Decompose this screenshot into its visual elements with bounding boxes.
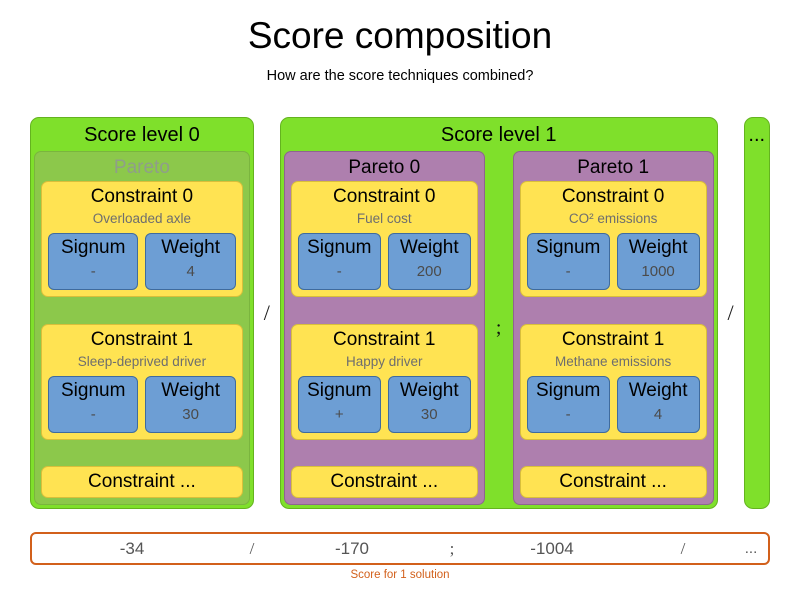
weight-label: Weight: [148, 235, 232, 260]
constraint-fields: Signum + Weight 30: [298, 376, 471, 433]
constraint-title: Constraint 0: [527, 184, 700, 209]
constraint-more-row[interactable]: Constraint ...: [41, 466, 243, 498]
constraint-card[interactable]: Constraint 0 Overloaded axle Signum - We…: [41, 181, 243, 297]
score-value-more: ...: [734, 540, 768, 557]
signum-value: -: [530, 260, 607, 284]
constraint-card[interactable]: Constraint 1 Methane emissions Signum - …: [520, 324, 707, 440]
pareto-title: Pareto 0: [291, 155, 478, 181]
weight-label: Weight: [391, 235, 468, 260]
constraint-description: CO² emissions: [527, 209, 700, 229]
weight-field[interactable]: Weight 200: [388, 233, 471, 290]
score-separator-2: ;: [432, 539, 472, 559]
pareto-group-level1-0: Pareto 0 Constraint 0 Fuel cost Signum -…: [284, 151, 485, 505]
signum-field[interactable]: Signum -: [527, 233, 610, 290]
constraint-more-row[interactable]: Constraint ...: [291, 466, 478, 498]
constraint-card[interactable]: Constraint 1 Happy driver Signum + Weigh…: [291, 324, 478, 440]
weight-field[interactable]: Weight 4: [145, 233, 235, 290]
signum-value: -: [51, 403, 135, 427]
constraint-title: Constraint 1: [48, 327, 236, 352]
signum-label: Signum: [530, 235, 607, 260]
constraint-fields: Signum - Weight 30: [48, 376, 236, 433]
score-level-0-body: Pareto Constraint 0 Overloaded axle Sign…: [34, 151, 250, 505]
constraint-description: Sleep-deprived driver: [48, 352, 236, 372]
score-level-more-title: ...: [748, 121, 765, 147]
pareto-title: Pareto: [41, 155, 243, 181]
weight-field[interactable]: Weight 30: [388, 376, 471, 433]
score-separator-1: /: [232, 539, 272, 559]
signum-value: +: [301, 403, 378, 427]
weight-label: Weight: [148, 378, 232, 403]
page-subtitle: How are the score techniques combined?: [0, 67, 800, 85]
signum-label: Signum: [51, 378, 135, 403]
constraint-fields: Signum - Weight 4: [48, 233, 236, 290]
signum-field[interactable]: Signum -: [48, 376, 138, 433]
signum-label: Signum: [301, 235, 378, 260]
score-caption: Score for 1 solution: [30, 568, 770, 582]
signum-value: -: [530, 403, 607, 427]
score-level-0-title: Score level 0: [34, 121, 250, 151]
pareto-title: Pareto 1: [520, 155, 707, 181]
weight-label: Weight: [620, 378, 697, 403]
pareto-constraint-list: Constraint 0 Overloaded axle Signum - We…: [41, 181, 243, 498]
weight-field[interactable]: Weight 30: [145, 376, 235, 433]
signum-value: -: [51, 260, 135, 284]
signum-field[interactable]: Signum -: [298, 233, 381, 290]
signum-field[interactable]: Signum -: [527, 376, 610, 433]
constraint-card[interactable]: Constraint 0 CO² emissions Signum - Weig…: [520, 181, 707, 297]
score-level-1-title: Score level 1: [284, 121, 714, 151]
constraint-fields: Signum - Weight 200: [298, 233, 471, 290]
constraint-fields: Signum - Weight 4: [527, 376, 700, 433]
constraint-description: Fuel cost: [298, 209, 471, 229]
signum-field[interactable]: Signum +: [298, 376, 381, 433]
weight-value: 30: [148, 403, 232, 427]
pareto-constraint-list: Constraint 0 Fuel cost Signum - Weight 2…: [291, 181, 478, 498]
score-level-more-panel: ...: [744, 117, 770, 509]
separator-pareto-0-to-1: ;: [492, 151, 506, 505]
constraint-card[interactable]: Constraint 0 Fuel cost Signum - Weight 2…: [291, 181, 478, 297]
score-level-1-panel: Score level 1 Pareto 0 Constraint 0 Fuel…: [280, 117, 718, 509]
constraint-description: Overloaded axle: [48, 209, 236, 229]
constraint-title: Constraint 1: [527, 327, 700, 352]
weight-field[interactable]: Weight 4: [617, 376, 700, 433]
weight-value: 4: [148, 260, 232, 284]
constraint-title: Constraint 0: [48, 184, 236, 209]
constraint-title: Constraint 1: [298, 327, 471, 352]
score-summary: -34 / -170 ; -1004 / ... Score for 1 sol…: [30, 532, 770, 582]
signum-label: Signum: [51, 235, 135, 260]
weight-value: 200: [391, 260, 468, 284]
score-composition-diagram: Score level 0 Pareto Constraint 0 Overlo…: [30, 117, 770, 509]
weight-label: Weight: [620, 235, 697, 260]
score-bar: -34 / -170 ; -1004 / ...: [30, 532, 770, 565]
weight-label: Weight: [391, 378, 468, 403]
constraint-more-row[interactable]: Constraint ...: [520, 466, 707, 498]
score-level-1-body: Pareto 0 Constraint 0 Fuel cost Signum -…: [284, 151, 714, 505]
signum-label: Signum: [301, 378, 378, 403]
score-value-level-1-pareto-1: -1004: [472, 539, 632, 559]
signum-value: -: [301, 260, 378, 284]
page-title: Score composition: [0, 14, 800, 58]
header: Score composition How are the score tech…: [0, 0, 800, 85]
constraint-description: Happy driver: [298, 352, 471, 372]
weight-value: 4: [620, 403, 697, 427]
weight-value: 1000: [620, 260, 697, 284]
weight-field[interactable]: Weight 1000: [617, 233, 700, 290]
pareto-constraint-list: Constraint 0 CO² emissions Signum - Weig…: [520, 181, 707, 498]
score-value-level-1-pareto-0: -170: [272, 539, 432, 559]
pareto-group-level0-0: Pareto Constraint 0 Overloaded axle Sign…: [34, 151, 250, 505]
signum-label: Signum: [530, 378, 607, 403]
weight-value: 30: [391, 403, 468, 427]
constraint-title: Constraint 0: [298, 184, 471, 209]
constraint-card[interactable]: Constraint 1 Sleep-deprived driver Signu…: [41, 324, 243, 440]
constraint-description: Methane emissions: [527, 352, 700, 372]
score-value-level-0: -34: [32, 539, 232, 559]
signum-field[interactable]: Signum -: [48, 233, 138, 290]
separator-level-0-to-1: /: [254, 117, 280, 509]
pareto-group-level1-1: Pareto 1 Constraint 0 CO² emissions Sign…: [513, 151, 714, 505]
constraint-fields: Signum - Weight 1000: [527, 233, 700, 290]
separator-level-1-to-more: /: [718, 117, 744, 509]
score-level-0-panel: Score level 0 Pareto Constraint 0 Overlo…: [30, 117, 254, 509]
score-separator-3: /: [632, 539, 734, 559]
